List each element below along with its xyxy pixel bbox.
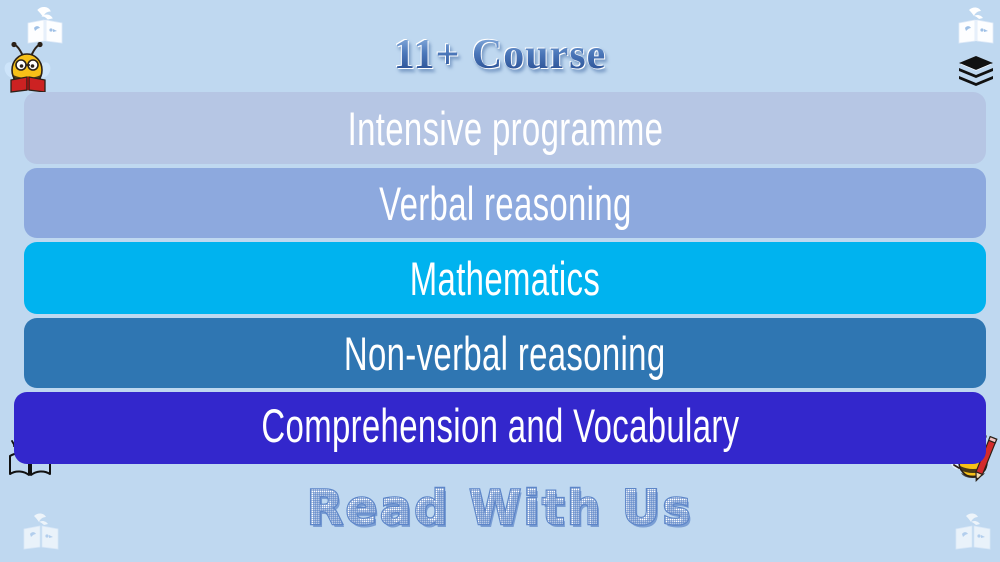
- course-module-bar[interactable]: Mathematics: [24, 242, 986, 314]
- course-module-label: Comprehension and Vocabulary: [261, 398, 739, 453]
- course-module-label: Mathematics: [410, 251, 600, 306]
- course-module-bar[interactable]: Verbal reasoning: [24, 168, 986, 238]
- course-module-label: Intensive programme: [347, 101, 663, 156]
- page-title-container: 11+ Course: [0, 34, 1000, 76]
- poster-canvas: 11+ Course Intensive programme Verbal re…: [0, 0, 1000, 562]
- course-module-bar[interactable]: Non-verbal reasoning: [24, 318, 986, 388]
- page-title: 11+ Course: [394, 34, 606, 76]
- course-module-label: Verbal reasoning: [379, 176, 632, 231]
- book-with-dove-icon: [24, 4, 68, 48]
- course-module-bar[interactable]: Comprehension and Vocabulary: [14, 392, 986, 464]
- course-module-label: Non-verbal reasoning: [344, 326, 666, 381]
- bee-reading-book-icon: [4, 42, 54, 94]
- footer-brand: Read With Us: [307, 484, 693, 533]
- book-with-dove-icon: [955, 2, 999, 50]
- stacked-books-icon: [957, 55, 995, 91]
- course-module-bar[interactable]: Intensive programme: [24, 92, 986, 164]
- footer-brand-container: Read With Us: [0, 484, 1000, 533]
